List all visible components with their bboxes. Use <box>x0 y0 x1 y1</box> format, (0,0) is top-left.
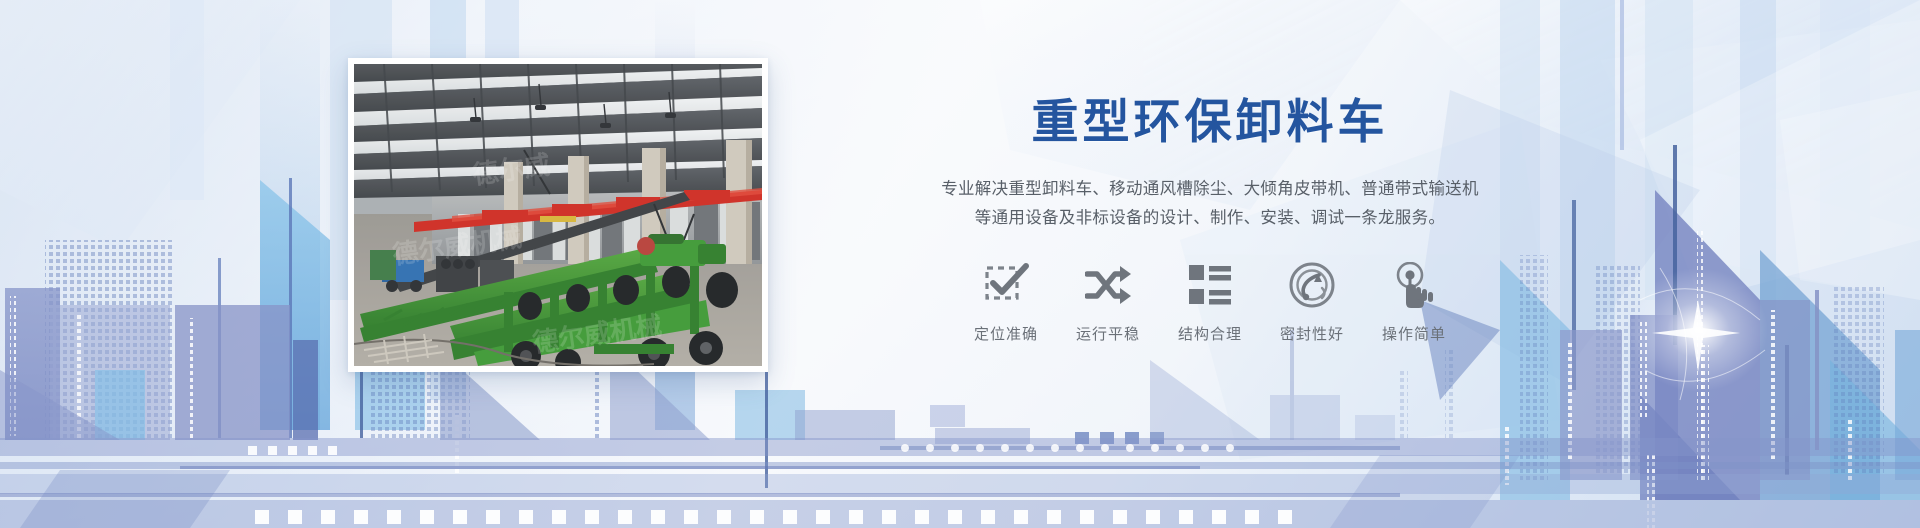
shuffle-arrows-icon <box>1082 259 1134 311</box>
banner-content: 重型环保卸料车 专业解决重型卸料车、移动通风槽除尘、大倾角皮带机、普通带式输送机… <box>800 95 1620 344</box>
feature-label: 结构合理 <box>1178 323 1242 344</box>
feature-label: 操作简单 <box>1382 323 1446 344</box>
factory-photo-illustration: 德尔威机械 德尔威机械 德尔威 <box>354 64 762 366</box>
product-photo-frame: 德尔威机械 德尔威机械 德尔威 <box>348 58 768 372</box>
page-title: 重型环保卸料车 <box>800 95 1620 149</box>
feature-label: 定位准确 <box>974 323 1038 344</box>
feature-label: 运行平稳 <box>1076 323 1140 344</box>
feature-item-sealing[interactable]: 密封性好 <box>1274 259 1350 344</box>
touch-hand-icon <box>1388 259 1440 311</box>
feature-label: 密封性好 <box>1280 323 1344 344</box>
product-photo: 德尔威机械 德尔威机械 德尔威 <box>354 64 762 366</box>
banner-description: 专业解决重型卸料车、移动通风槽除尘、大倾角皮带机、普通带式输送机等通用设备及非标… <box>938 175 1483 233</box>
feature-item-positioning[interactable]: 定位准确 <box>968 259 1044 344</box>
hero-banner: 德尔威机械 德尔威机械 德尔威 重型环保卸料车 专业解决重型卸料车、移动通风槽除… <box>0 0 1920 528</box>
feature-item-easy-operation[interactable]: 操作简单 <box>1376 259 1452 344</box>
feature-item-smooth-operation[interactable]: 运行平稳 <box>1070 259 1146 344</box>
list-blocks-icon <box>1184 259 1236 311</box>
feature-list: 定位准确 运行平稳 <box>800 259 1620 344</box>
feature-item-structure[interactable]: 结构合理 <box>1172 259 1248 344</box>
checkbox-check-icon <box>980 259 1032 311</box>
seal-circle-icon <box>1286 259 1338 311</box>
